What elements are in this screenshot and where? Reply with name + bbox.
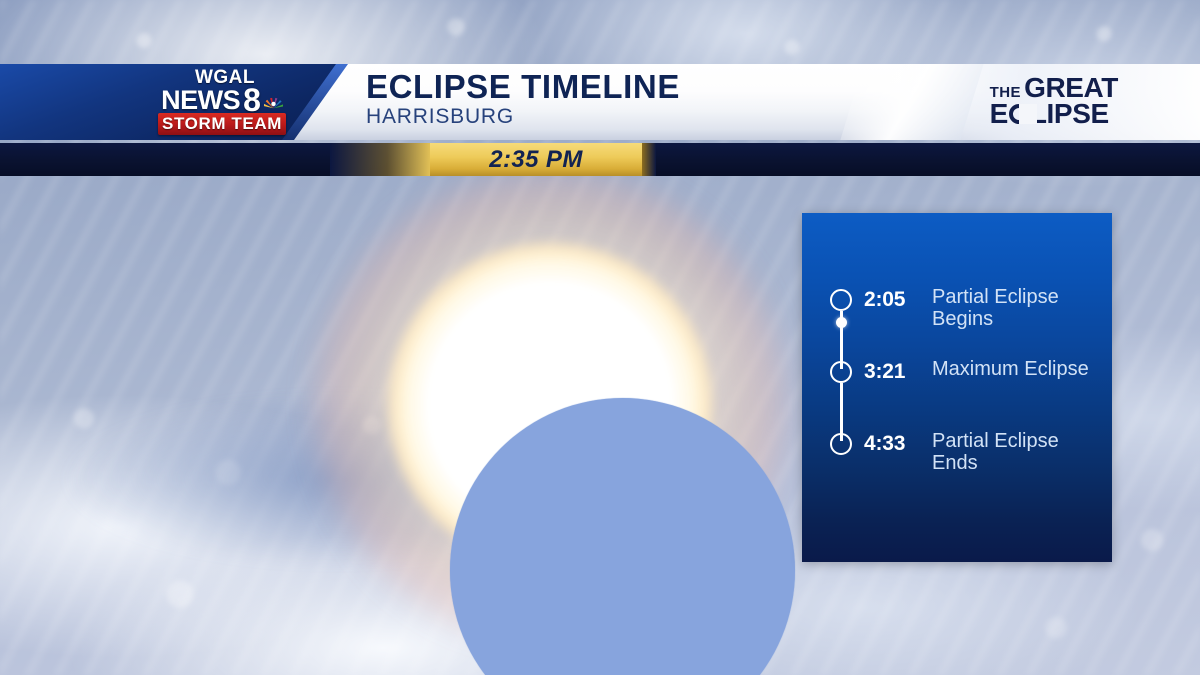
broadcast-graphic: WGAL NEWS 8 — [0, 0, 1200, 675]
timeline-item[interactable]: 4:33 Partial Eclipse Ends — [824, 431, 1098, 503]
title-plate-sheen — [840, 64, 983, 140]
timeline-marker-column — [824, 287, 858, 311]
great-eclipse-logo: THE GREAT E LIPSE — [990, 74, 1118, 128]
station-news-line: NEWS 8 — [132, 86, 312, 115]
timeline-item-time: 3:21 — [858, 359, 926, 384]
timeline-item[interactable]: 2:05 Partial Eclipse Begins — [824, 287, 1098, 359]
great-eclipse-line-two: E LIPSE — [990, 100, 1118, 128]
timeline-item[interactable]: 3:21 Maximum Eclipse — [824, 359, 1098, 431]
timeline-marker-icon — [830, 433, 852, 455]
time-bar-right-cap — [642, 143, 656, 176]
timeline-item-time: 2:05 — [858, 287, 926, 312]
header-banner: WGAL NEWS 8 — [0, 64, 1200, 176]
timeline-marker-column — [824, 359, 858, 383]
storm-team-banner: STORM TEAM — [158, 113, 286, 135]
timeline-item-label: Partial Eclipse Ends — [926, 431, 1098, 474]
page-subtitle: HARRISBURG — [366, 106, 680, 128]
timeline-list: 2:05 Partial Eclipse Begins 3:21 Maximum… — [824, 287, 1098, 503]
great-eclipse-e: E — [990, 100, 1008, 128]
timeline-item-time: 4:33 — [858, 431, 926, 456]
page-title: ECLIPSE TIMELINE — [366, 70, 680, 105]
time-bar-row: 2:35 PM — [0, 143, 1200, 176]
timeline-marker-column — [824, 431, 858, 455]
timeline-item-label: Maximum Eclipse — [926, 359, 1098, 381]
eclipse-ring-icon — [1009, 104, 1029, 124]
timeline-marker-icon — [830, 289, 852, 311]
great-eclipse-lipse: LIPSE — [1030, 100, 1109, 128]
title-group: ECLIPSE TIMELINE HARRISBURG — [366, 70, 680, 128]
nbc-peacock-icon — [264, 94, 283, 113]
current-time: 2:35 PM — [430, 143, 642, 176]
station-news-word: NEWS — [161, 87, 240, 114]
timeline-item-label: Partial Eclipse Begins — [926, 287, 1098, 330]
station-channel-number: 8 — [243, 86, 261, 115]
timeline-progress-dot-icon — [836, 317, 847, 328]
time-bar-left-fade — [330, 143, 434, 176]
timeline-marker-icon — [830, 361, 852, 383]
station-logo: WGAL NEWS 8 — [132, 68, 312, 138]
eclipse-timeline-panel: 2:05 Partial Eclipse Begins 3:21 Maximum… — [802, 213, 1112, 562]
